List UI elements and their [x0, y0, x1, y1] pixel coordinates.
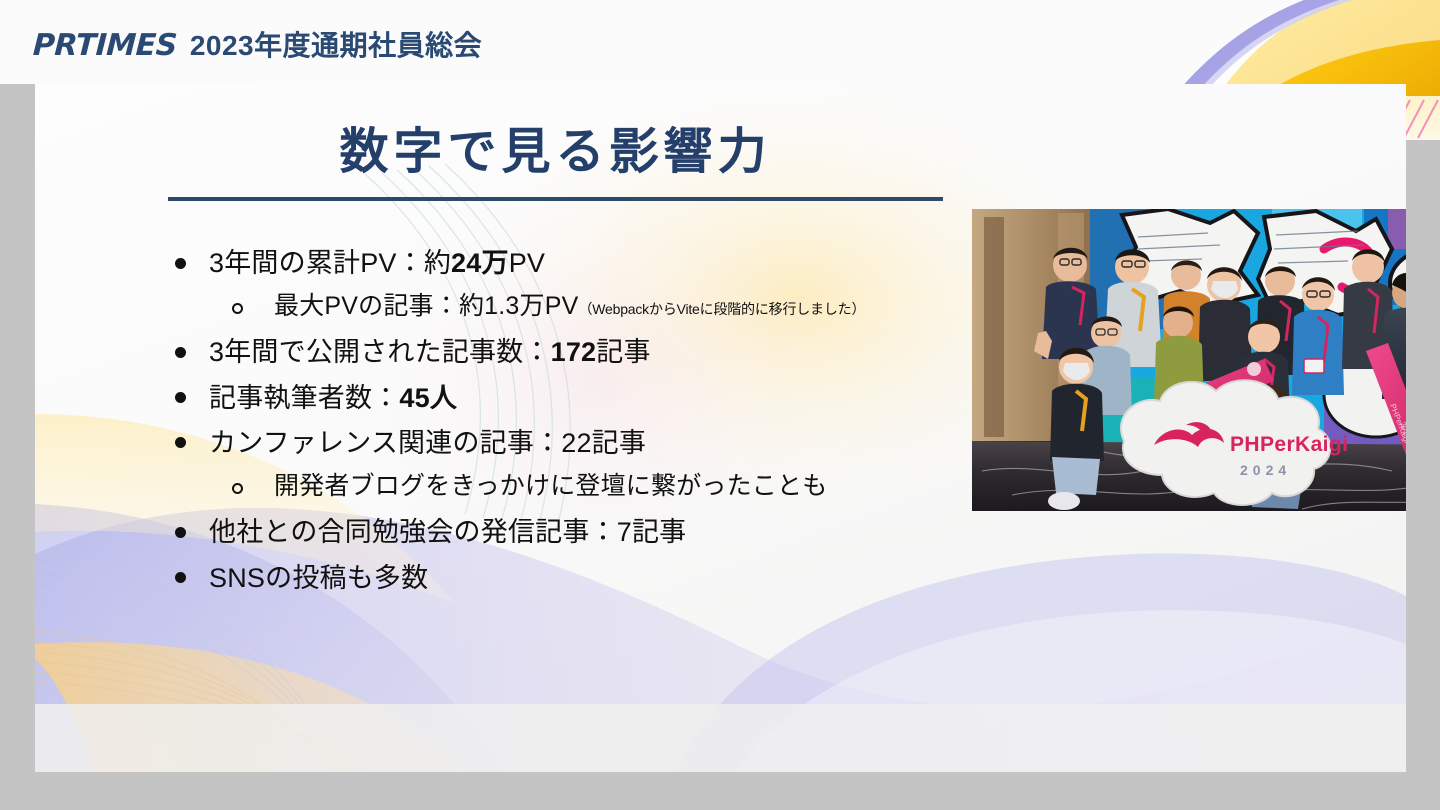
- bullet-marker-shape: [175, 572, 186, 583]
- list-item-text-run: 開発者ブログをきっかけに登壇に繋がったことも: [274, 472, 827, 500]
- bullet-marker-shape: [175, 392, 186, 403]
- list-item-note: （WebpackからViteに段階的に移行しました）: [578, 301, 865, 317]
- bullet-disc-icon: [175, 424, 209, 462]
- bullet-marker-shape: [232, 483, 243, 494]
- list-item-text-run: 最大PVの記事：約1.3万PV: [274, 292, 578, 320]
- bullet-marker-shape: [175, 258, 186, 269]
- bullet-disc-icon: [175, 559, 209, 597]
- list-item-text: SNSの投稿も多数: [209, 559, 428, 597]
- title-divider: [168, 197, 943, 201]
- list-item: SNSの投稿も多数: [175, 559, 965, 597]
- bullet-list: 3年間の累計PV：約24万PV最大PVの記事：約1.3万PV（Webpackから…: [175, 244, 965, 604]
- svg-text:2024: 2024: [1240, 462, 1291, 478]
- phperkaigi-group-photo: PHPerKaigi PHPerKaigi 2024 PHPerKaigi: [972, 209, 1406, 511]
- list-item: 他社との合同勉強会の発信記事：7記事: [175, 513, 965, 551]
- list-item-text: 開発者ブログをきっかけに登壇に繋がったことも: [274, 469, 827, 505]
- list-item-text-run: 他社との合同勉強会の発信記事：7記事: [209, 517, 686, 547]
- bullet-marker-shape: [175, 527, 186, 538]
- list-item: 記事執筆者数：45人: [175, 379, 965, 417]
- list-item: 3年間の累計PV：約24万PV: [175, 244, 965, 282]
- list-item-text-run: SNSの投稿も多数: [209, 563, 428, 593]
- list-item: カンファレンス関連の記事：22記事: [175, 424, 965, 462]
- brand-lockup: PRTIMES 2023年度通期社員総会: [33, 24, 482, 64]
- list-item-text-run: 172: [551, 337, 597, 367]
- list-item-text-run: 記事: [596, 337, 650, 367]
- page-title: 数字で見る影響力: [168, 124, 943, 180]
- list-item-text-run: カンファレンス関連の記事：22記事: [209, 428, 646, 458]
- svg-text:PHPerKaigi: PHPerKaigi: [1230, 433, 1348, 456]
- title-block: 数字で見る影響力: [168, 124, 943, 201]
- list-item-text-run: 24万: [451, 248, 509, 278]
- bullet-disc-icon: [175, 244, 209, 282]
- list-item-text: カンファレンス関連の記事：22記事: [209, 424, 646, 462]
- list-item-text: 最大PVの記事：約1.3万PV（WebpackからViteに段階的に移行しました…: [274, 289, 865, 325]
- list-item-text-run: 記事執筆者数：: [209, 383, 399, 413]
- bullet-marker-shape: [232, 303, 243, 314]
- slide-content-card: 数字で見る影響力 3年間の累計PV：約24万PV最大PVの記事：約1.3万PV（…: [35, 84, 1406, 772]
- list-item-text: 他社との合同勉強会の発信記事：7記事: [209, 513, 686, 551]
- list-item: 開発者ブログをきっかけに登壇に繋がったことも: [175, 469, 965, 507]
- list-item-text-run: 3年間で公開された記事数：: [209, 337, 551, 367]
- list-item-text: 記事執筆者数：45人: [209, 379, 457, 417]
- bullet-disc-icon: [175, 513, 209, 551]
- list-item-text-run: PV: [509, 248, 545, 278]
- bullet-marker-shape: [175, 437, 186, 448]
- bullet-circle-icon: [232, 289, 274, 327]
- list-item-text-run: 3年間の累計PV：約: [209, 248, 451, 278]
- bullet-marker-shape: [175, 347, 186, 358]
- list-item: 最大PVの記事：約1.3万PV（WebpackからViteに段階的に移行しました…: [175, 289, 965, 327]
- list-item-text: 3年間の累計PV：約24万PV: [209, 244, 545, 282]
- list-item-text: 3年間で公開された記事数：172記事: [209, 333, 651, 371]
- bullet-disc-icon: [175, 333, 209, 371]
- prtimes-logo: PRTIMES: [32, 28, 178, 63]
- bullet-circle-icon: [232, 469, 274, 507]
- list-item-text-run: 45人: [399, 383, 457, 413]
- slide-canvas: PRTIMES 2023年度通期社員総会: [0, 0, 1440, 810]
- header-title: 2023年度通期社員総会: [190, 24, 482, 64]
- list-item: 3年間で公開された記事数：172記事: [175, 333, 965, 371]
- slide-header: PRTIMES 2023年度通期社員総会: [0, 0, 1440, 84]
- bullet-disc-icon: [175, 379, 209, 417]
